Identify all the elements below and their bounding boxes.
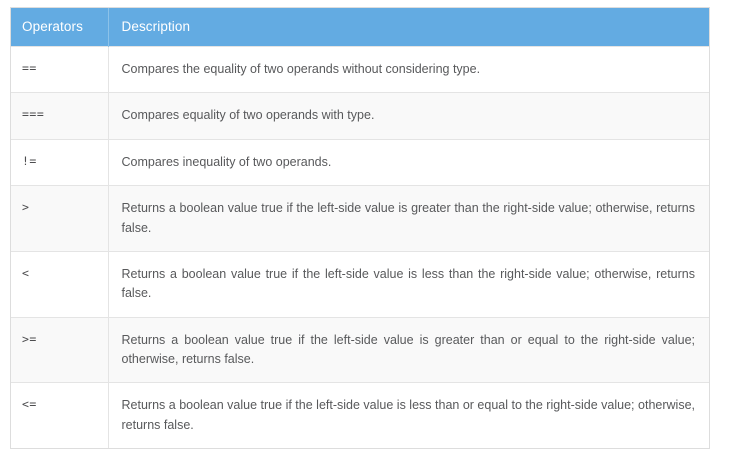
- table-row: >Returns a boolean value true if the lef…: [11, 186, 709, 252]
- cell-description: Returns a boolean value true if the left…: [108, 251, 709, 317]
- cell-operator: <=: [11, 383, 108, 448]
- table-row: <=Returns a boolean value true if the le…: [11, 383, 709, 448]
- description-text: Returns a boolean value true if the left…: [122, 265, 696, 304]
- operators-table: Operators Description ==Compares the equ…: [11, 8, 709, 448]
- description-text: Returns a boolean value true if the left…: [122, 331, 696, 370]
- description-text: Returns a boolean value true if the left…: [122, 199, 696, 238]
- cell-operator: !=: [11, 139, 108, 185]
- description-text: Returns a boolean value true if the left…: [122, 396, 696, 435]
- description-text: Compares inequality of two operands.: [122, 153, 696, 172]
- cell-description: Returns a boolean value true if the left…: [108, 383, 709, 448]
- table-row: ==Compares the equality of two operands …: [11, 47, 709, 93]
- operators-table-container: Operators Description ==Compares the equ…: [10, 7, 710, 449]
- cell-description: Returns a boolean value true if the left…: [108, 317, 709, 383]
- cell-description: Returns a boolean value true if the left…: [108, 186, 709, 252]
- description-text: Compares equality of two operands with t…: [122, 106, 696, 125]
- cell-operator: ===: [11, 93, 108, 139]
- column-header-operators: Operators: [11, 8, 108, 47]
- page-root: Operators Description ==Compares the equ…: [0, 0, 730, 404]
- cell-operator: ==: [11, 47, 108, 93]
- table-row: ===Compares equality of two operands wit…: [11, 93, 709, 139]
- cell-operator: >: [11, 186, 108, 252]
- table-row: !=Compares inequality of two operands.: [11, 139, 709, 185]
- cell-description: Compares equality of two operands with t…: [108, 93, 709, 139]
- table-header-row: Operators Description: [11, 8, 709, 47]
- table-body: ==Compares the equality of two operands …: [11, 47, 709, 449]
- table-row: <Returns a boolean value true if the lef…: [11, 251, 709, 317]
- table-row: >=Returns a boolean value true if the le…: [11, 317, 709, 383]
- table-header: Operators Description: [11, 8, 709, 47]
- cell-description: Compares inequality of two operands.: [108, 139, 709, 185]
- cell-description: Compares the equality of two operands wi…: [108, 47, 709, 93]
- description-text: Compares the equality of two operands wi…: [122, 60, 696, 79]
- column-header-description: Description: [108, 8, 709, 47]
- cell-operator: <: [11, 251, 108, 317]
- cell-operator: >=: [11, 317, 108, 383]
